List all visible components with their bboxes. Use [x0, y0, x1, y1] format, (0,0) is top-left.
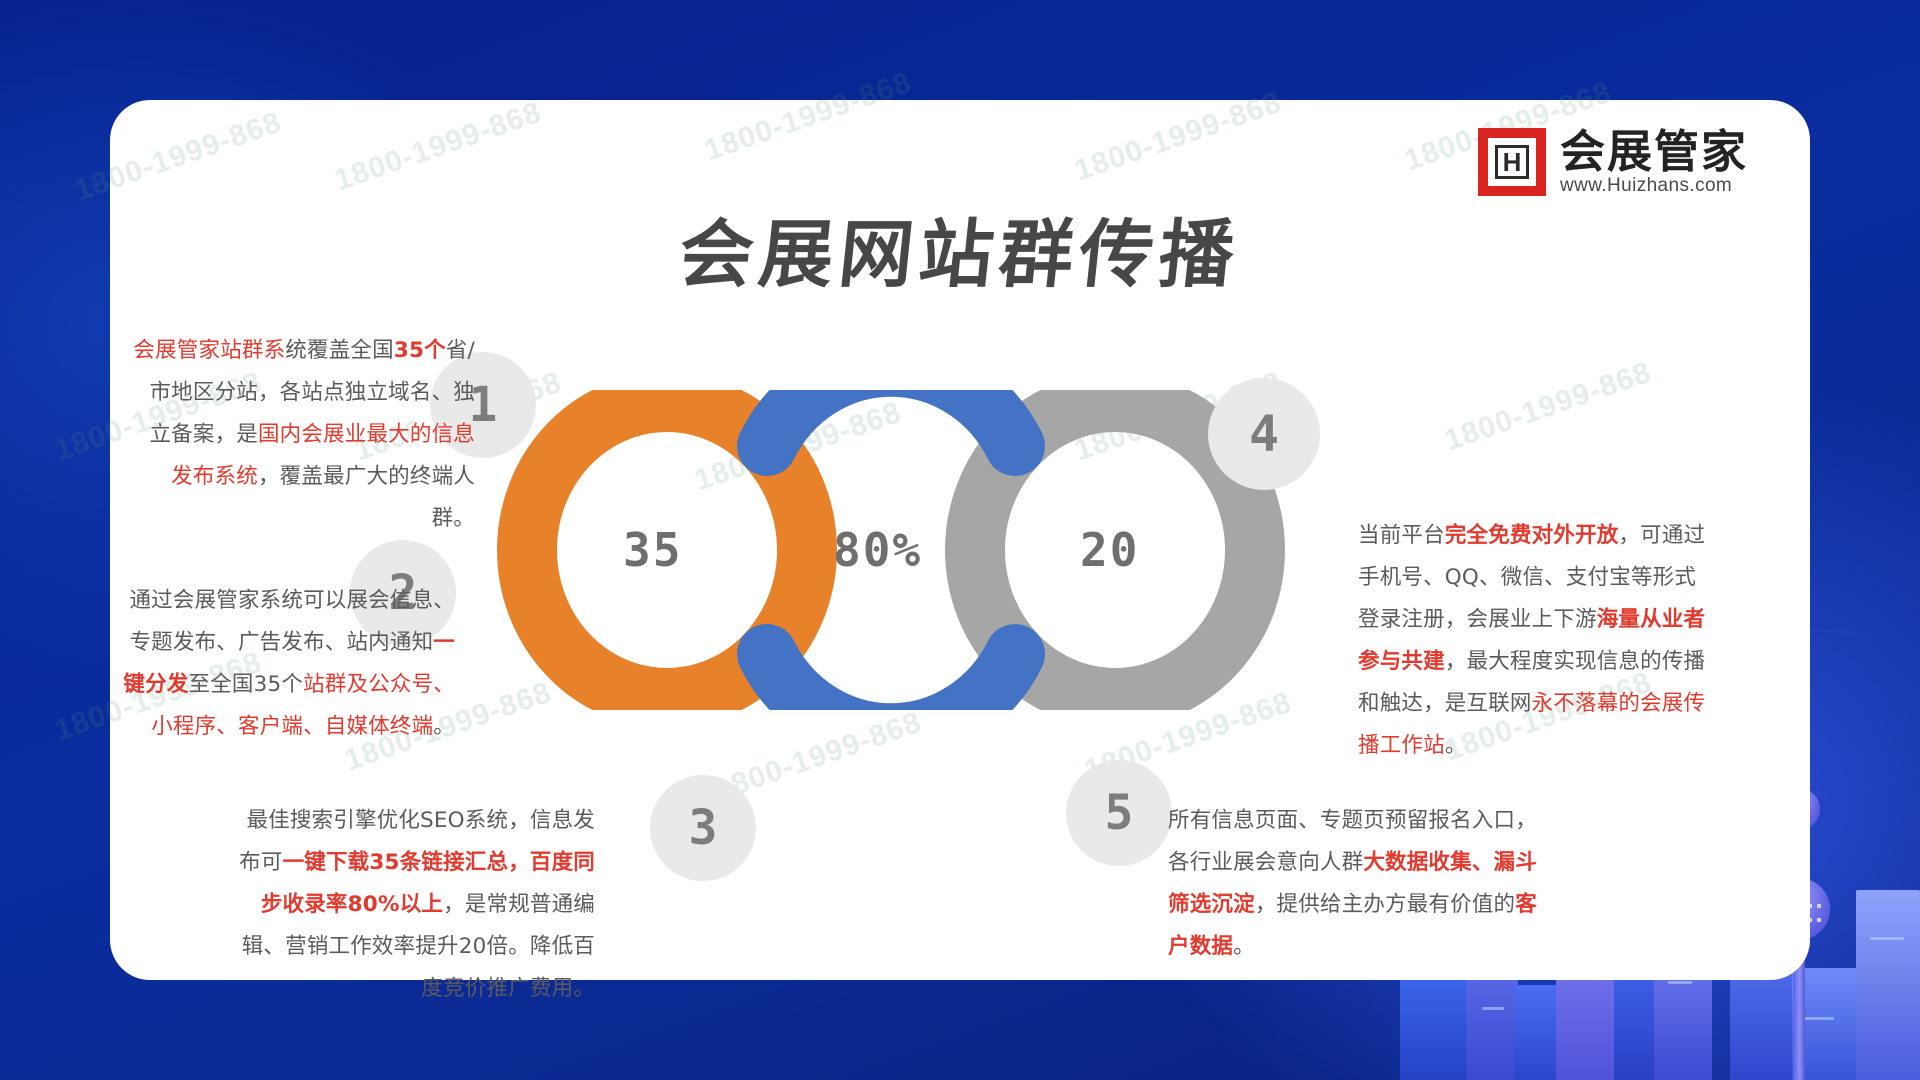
- text-block-4: 当前平台完全免费对外开放，可通过手机号、QQ、微信、支付宝等形式登录注册，会展业…: [1358, 515, 1710, 767]
- text-block-3: 最佳搜索引擎优化SEO系统，信息发布可一键下载35条链接汇总，百度同步收录率80…: [225, 800, 595, 1010]
- watermark: 1800-1999-868: [1440, 356, 1656, 459]
- badge-3: 3: [650, 775, 756, 881]
- badge-5: 5: [1066, 760, 1172, 866]
- interlocking-rings-chart: 35 80% 20: [495, 390, 1285, 710]
- text-block-2: 通过会展管家系统可以展会信息、专题发布、广告发布、站内通知一键分发至全国35个站…: [110, 580, 455, 748]
- watermark: 1800-1999-868: [330, 96, 546, 199]
- ring-value-blue: 80%: [833, 523, 922, 577]
- brand-url: www.Huizhans.com: [1560, 176, 1748, 195]
- page-title: 会展网站群传播: [104, 195, 1815, 302]
- text-block-1: 会展管家站群系统覆盖全国35个省/市地区分站，各站点独立域名、独立备案，是国内会…: [130, 330, 475, 540]
- brand-logo-text: 会展管家 www.Huizhans.com: [1560, 129, 1748, 195]
- badge-4: 4: [1208, 378, 1320, 490]
- brand-logo: 会展管家 www.Huizhans.com: [1478, 128, 1748, 196]
- brand-name: 会展管家: [1560, 129, 1748, 174]
- ring-value-gray: 20: [1080, 523, 1139, 577]
- watermark: 1800-1999-868: [1070, 86, 1286, 189]
- ring-value-orange: 35: [623, 523, 682, 577]
- text-block-5: 所有信息页面、专题页预留报名入口，各行业展会意向人群大数据收集、漏斗筛选沉淀，提…: [1168, 800, 1538, 968]
- huizhans-logo-mark-icon: [1478, 128, 1546, 196]
- content-card: 1800-1999-868 1800-1999-868 1800-1999-86…: [110, 100, 1810, 980]
